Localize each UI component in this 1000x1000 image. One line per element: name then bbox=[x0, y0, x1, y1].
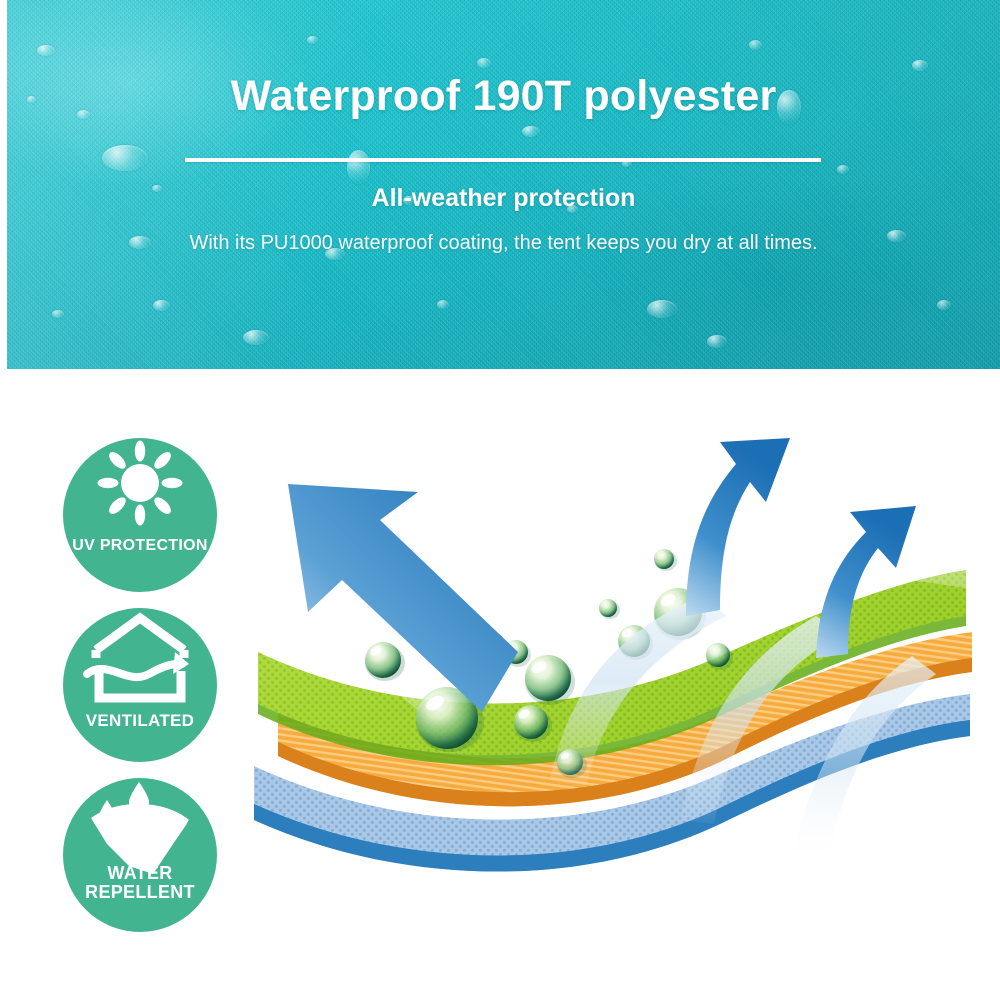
title-divider bbox=[185, 158, 821, 162]
water-droplet bbox=[365, 642, 405, 681]
badge-label: VENTILATED bbox=[63, 711, 217, 730]
badge-label: UV PROTECTION bbox=[63, 536, 217, 555]
hero-subtitle: All-weather protection bbox=[7, 184, 1000, 213]
badge-label-line-1: WATER bbox=[107, 863, 172, 883]
badge-label-line-2: REPELLENT bbox=[85, 882, 195, 902]
hero-description: With its PU1000 waterproof coating, the … bbox=[7, 228, 1000, 259]
fabric-droplets-icon bbox=[63, 778, 217, 932]
page-title: Waterproof 190T polyester bbox=[7, 72, 1000, 121]
water-droplet bbox=[599, 599, 620, 619]
house-airflow-icon bbox=[63, 608, 217, 762]
badge-water-repellent[interactable]: WATER REPELLENT bbox=[63, 778, 217, 932]
badge-uv-protection[interactable]: UV PROTECTION bbox=[63, 438, 217, 592]
badge-label: WATER REPELLENT bbox=[63, 864, 217, 902]
sun-icon bbox=[63, 438, 217, 592]
arrow-up-middle-icon bbox=[686, 438, 790, 616]
water-droplet bbox=[654, 549, 677, 571]
product-feature-page: Waterproof 190T polyester All-weather pr… bbox=[0, 0, 1000, 1000]
badge-ventilated[interactable]: VENTILATED bbox=[63, 608, 217, 762]
fabric-layers-illustration bbox=[250, 420, 980, 960]
water-droplet bbox=[525, 655, 575, 705]
feature-badges: UV PROTECTION VENTILATED bbox=[55, 438, 235, 950]
hero-text-block: Waterproof 190T polyester All-weather pr… bbox=[7, 0, 1000, 369]
hero-banner: Waterproof 190T polyester All-weather pr… bbox=[7, 0, 1000, 369]
